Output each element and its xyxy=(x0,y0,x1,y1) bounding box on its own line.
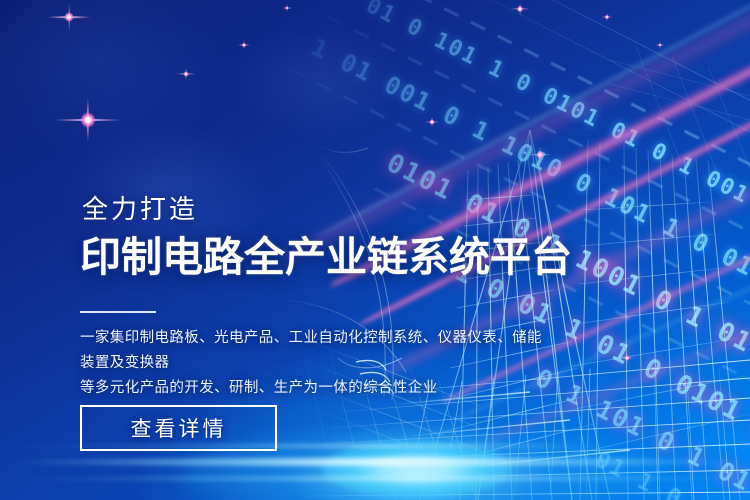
hero-subtitle-line-1: 一家集印制电路板、光电产品、工业自动化控制系统、仪器仪表、储能装置及变换器 xyxy=(80,326,550,376)
hero-subtitle: 一家集印制电路板、光电产品、工业自动化控制系统、仪器仪表、储能装置及变换器 等多… xyxy=(80,326,550,401)
divider-rule xyxy=(80,311,156,313)
hero-content: 全力打造 印制电路全产业链系统平台 一家集印制电路板、光电产品、工业自动化控制系… xyxy=(0,0,750,500)
hero-headline: 印制电路全产业链系统平台 xyxy=(80,236,572,279)
view-details-button[interactable]: 查看详情 xyxy=(80,405,277,451)
hero-subtitle-line-2: 等多元化产品的开发、研制、生产为一体的综合性企业 xyxy=(80,376,550,401)
hero-banner: 01 0 101 1 0 0101 01 0 1 001 1010 01 1 0… xyxy=(0,0,750,500)
hero-eyebrow: 全力打造 xyxy=(82,196,198,222)
